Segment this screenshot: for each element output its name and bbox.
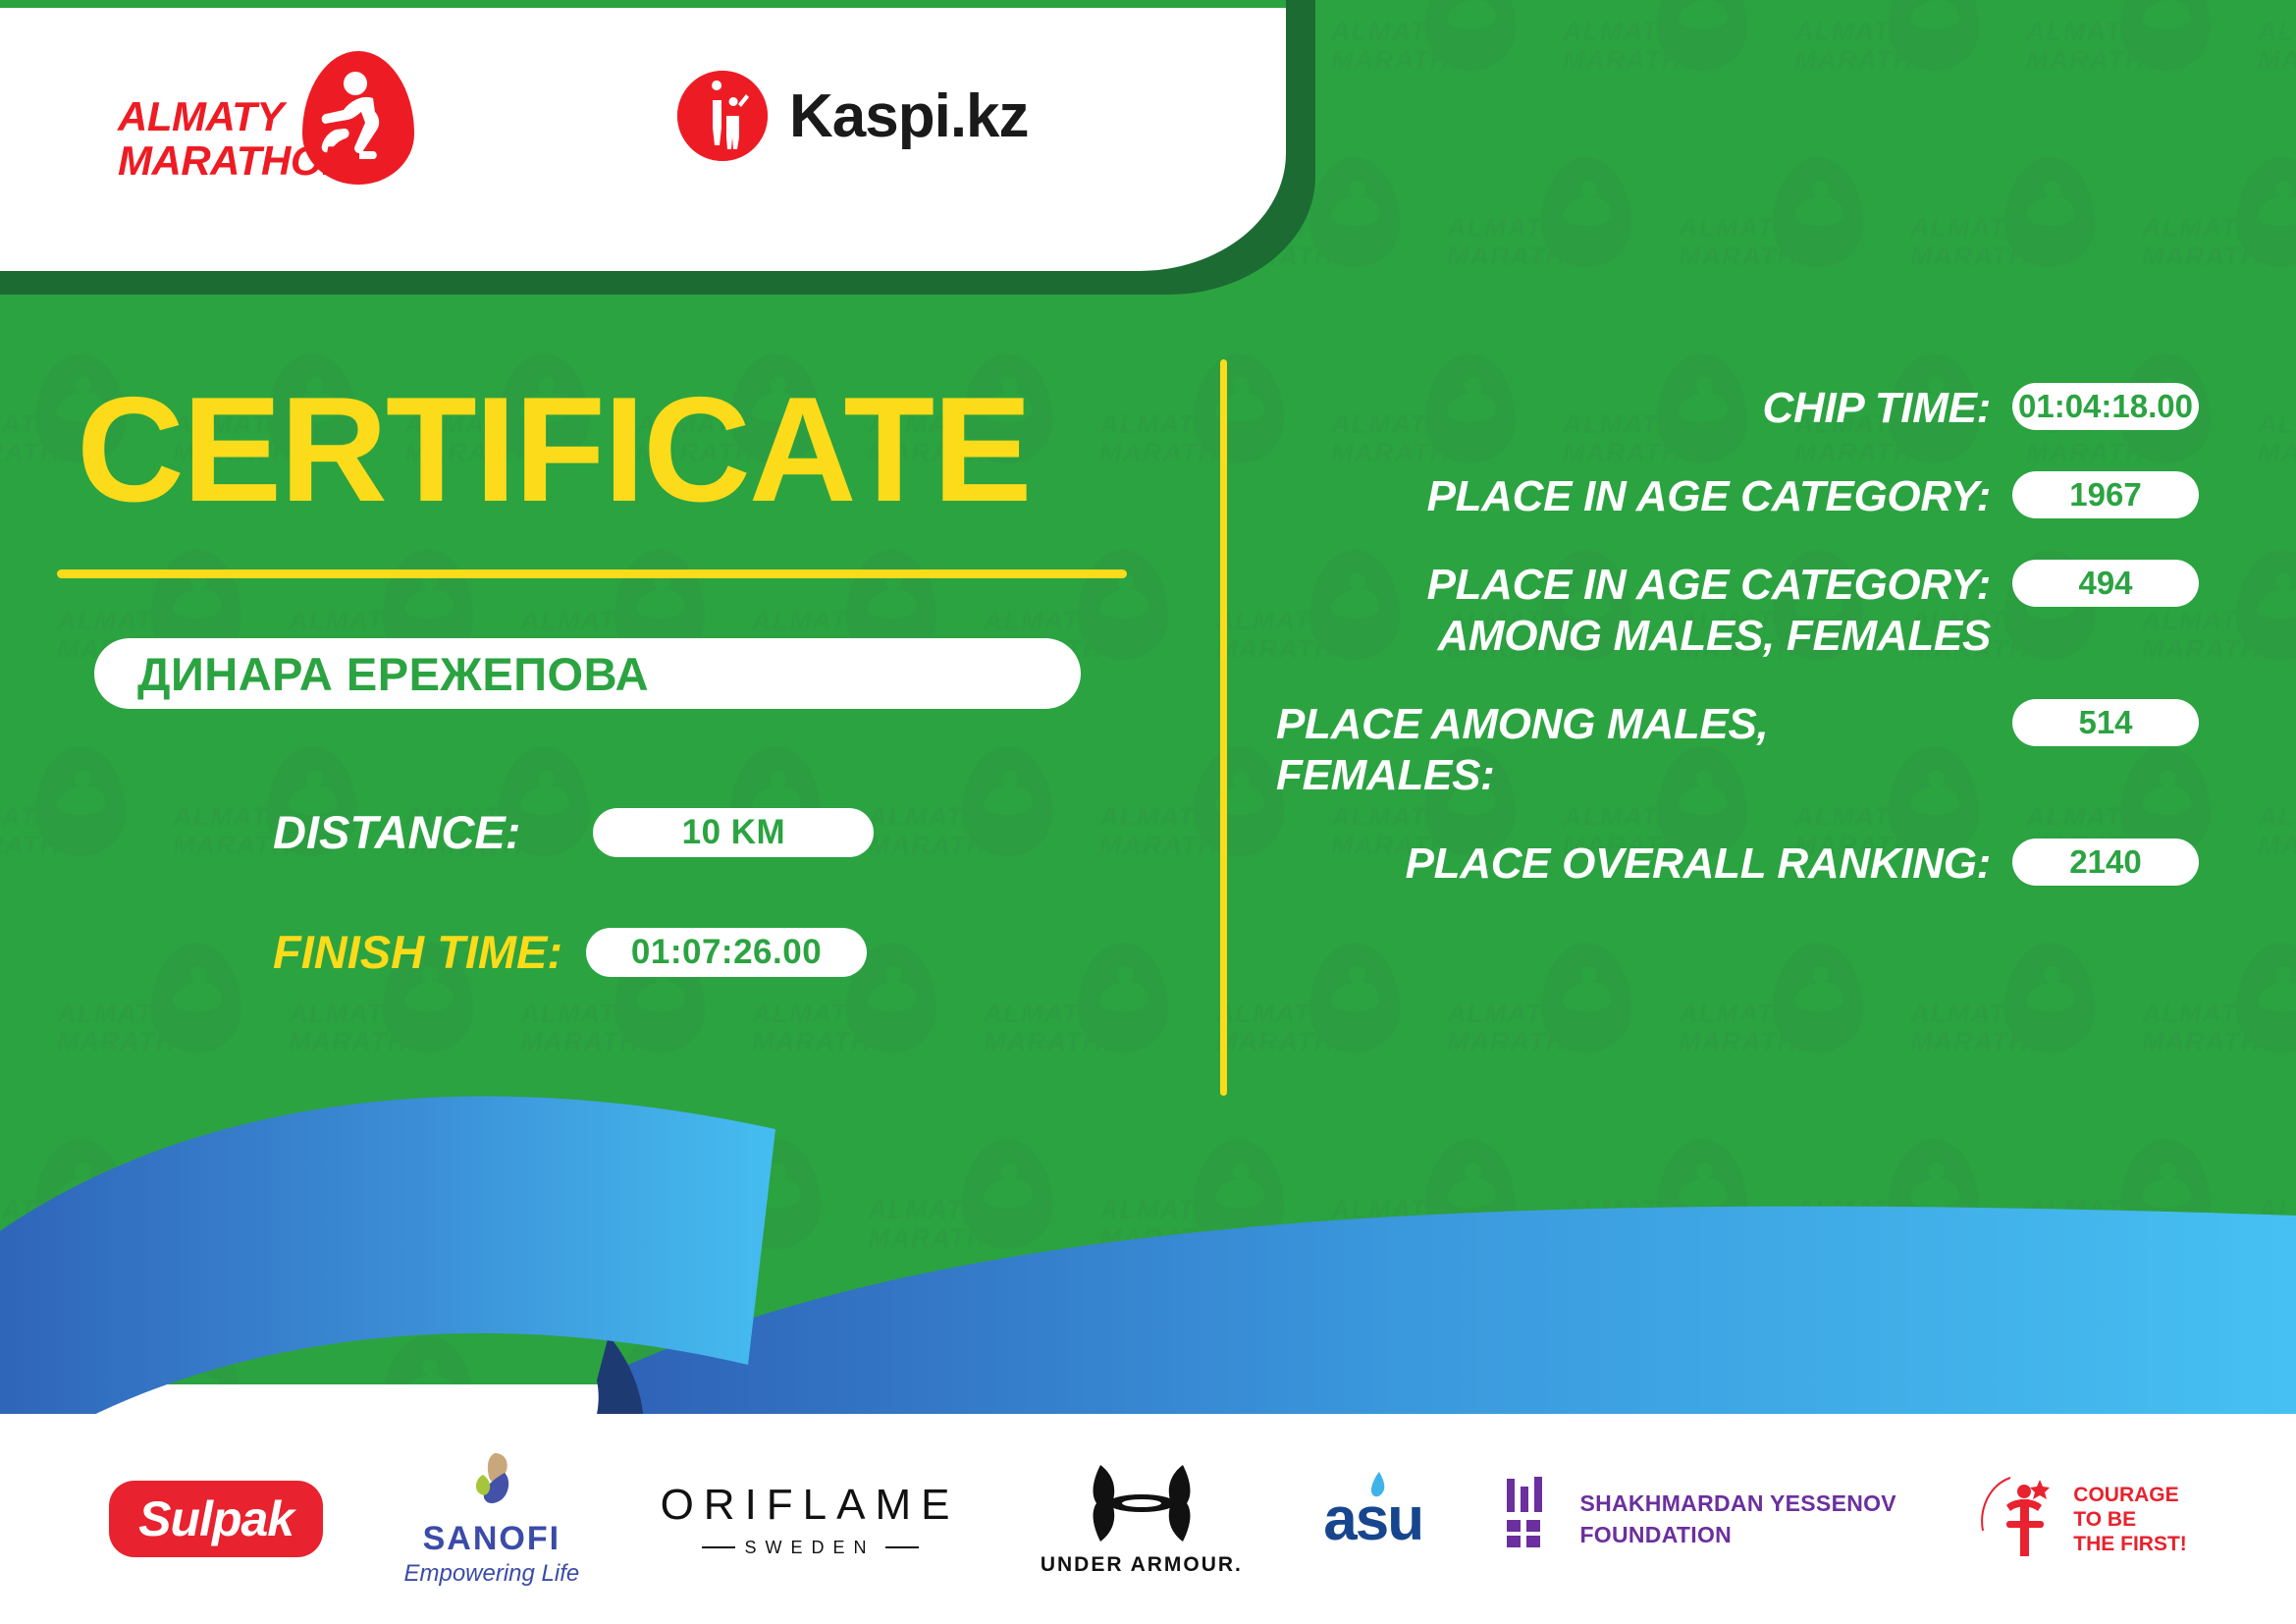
watermark-drop-icon — [1889, 0, 1979, 71]
watermark-tile: ALMATYMARATHON — [1679, 157, 1910, 353]
distance-row: DISTANCE: 10 KM — [273, 805, 874, 859]
watermark-tile: ALMATYMARATHON — [2258, 353, 2296, 550]
stat-value-pill: 514 — [2012, 699, 2199, 746]
stat-row: PLACE OVERALL RANKING:2140 — [1276, 839, 2199, 890]
certificate-body: ALMATYMARATHONALMATYMARATHONALMATYMARATH… — [0, 0, 2296, 1384]
watermark-text: ALMATYMARATHON — [1215, 1000, 1392, 1056]
finish-time-label: FINISH TIME: — [273, 925, 562, 979]
watermark-drop-icon — [2004, 943, 2095, 1053]
watermark-text: ALMATYMARATHON — [984, 1000, 1160, 1056]
watermark-text: ALMATYMARATHON — [1794, 18, 1971, 75]
title-underline — [57, 569, 1127, 578]
watermark-text: ALMATYMARATHON — [2142, 1000, 2296, 1056]
watermark-drop-icon — [1194, 353, 1284, 463]
stat-value: 514 — [2078, 704, 2132, 741]
sanofi-icon — [465, 1451, 518, 1516]
finish-time-value-pill: 01:07:26.00 — [586, 928, 867, 977]
watermark-text: ALMATYMARATHON — [1679, 1000, 1855, 1056]
oriflame-subtitle: SWEDEN — [702, 1538, 919, 1558]
watermark-tile: ALMATYMARATHON — [2258, 0, 2296, 157]
watermark-text: ALMATYMARATHON — [1794, 1196, 1971, 1253]
watermark-tile: ALMATYMARATHON — [173, 1139, 404, 1335]
watermark-drop-icon — [1078, 550, 1168, 660]
watermark-text: ALMATYMARATHON — [2258, 18, 2296, 75]
watermark-drop-icon — [2120, 0, 2211, 71]
header-top-strip — [0, 0, 1286, 8]
watermark-drop-icon — [1309, 157, 1400, 267]
watermark-text: ALMATYMARATHON — [289, 1000, 465, 1056]
stat-value-pill: 1967 — [2012, 471, 2199, 518]
watermark-drop-icon — [2120, 1139, 2211, 1249]
watermark-drop-icon — [1309, 1335, 1400, 1384]
sponsor-yessenov-foundation: SHAKHMARDAN YESSENOV FOUNDATION — [1503, 1477, 1896, 1561]
watermark-tile: ALMATYMARATHON — [404, 1139, 636, 1335]
sponsor-sanofi: SANOFI Empowering Life — [403, 1451, 579, 1588]
watermark-drop-icon — [1889, 1139, 1979, 1249]
almaty-marathon-wordmark: ALMATY MARATHON — [118, 94, 351, 183]
watermark-tile: ALMATYMARATHON — [0, 746, 173, 943]
watermark-drop-icon — [2004, 157, 2095, 267]
watermark-text: ALMATYMARATHON — [1099, 410, 1276, 467]
watermark-text: ALMATYMARATHON — [520, 1000, 697, 1056]
almaty-logo-line1: ALMATY — [118, 94, 351, 138]
watermark-tile: ALMATYMARATHON — [1099, 1139, 1331, 1335]
yessenov-line2: FOUNDATION — [1579, 1519, 1896, 1550]
oriflame-wordmark: ORIFLAME — [661, 1481, 960, 1530]
watermark-tile: ALMATYMARATHON — [1447, 157, 1679, 353]
watermark-drop-icon — [1657, 1139, 1747, 1249]
watermark-text: ALMATYMARATHON — [1679, 214, 1855, 271]
oriflame-sub-text: SWEDEN — [745, 1538, 876, 1558]
watermark-tile: ALMATYMARATHON — [1331, 1139, 1563, 1335]
watermark-text: ALMATYMARATHON — [2142, 214, 2296, 271]
kaspi-logo: Kaspi.kz — [677, 71, 1029, 161]
watermark-drop-icon — [962, 746, 1052, 856]
watermark-drop-icon — [1425, 1139, 1516, 1249]
stat-value: 1967 — [2069, 476, 2141, 514]
watermark-text: ALMATYMARATHON — [1099, 803, 1276, 860]
yessenov-line1: SHAKHMARDAN YESSENOV — [1579, 1488, 1896, 1519]
sulpak-logo: Sulpak — [109, 1481, 323, 1557]
stat-value-pill: 01:04:18.00 — [2012, 383, 2199, 430]
stat-value-pill: 494 — [2012, 560, 2199, 607]
watermark-text: ALMATYMARATHON — [752, 1000, 929, 1056]
finish-time-value: 01:07:26.00 — [631, 933, 822, 972]
watermark-drop-icon — [730, 1139, 821, 1249]
watermark-text: ALMATYMARATHON — [2258, 410, 2296, 467]
sponsor-under-armour: UNDER ARMOUR. — [1041, 1461, 1243, 1577]
watermark-tile: ALMATYMARATHON — [1910, 1335, 2142, 1384]
certificate-page: ALMATYMARATHONALMATYMARATHONALMATYMARATH… — [0, 0, 2296, 1624]
watermark-drop-icon — [499, 1139, 589, 1249]
yessenov-wordmark: SHAKHMARDAN YESSENOV FOUNDATION — [1579, 1488, 1896, 1550]
courage-line1: COURAGE — [2073, 1483, 2187, 1507]
watermark-drop-icon — [267, 1139, 357, 1249]
stat-row: CHIP TIME:01:04:18.00 — [1276, 383, 2199, 434]
watermark-drop-icon — [1309, 943, 1400, 1053]
watermark-text: ALMATYMARATHON — [1331, 1196, 1508, 1253]
watermark-drop-icon — [2004, 1335, 2095, 1384]
watermark-tile: ALMATYMARATHON — [2142, 943, 2296, 1139]
watermark-text: ALMATYMARATHON — [404, 1196, 581, 1253]
watermark-drop-icon — [2236, 1335, 2296, 1384]
yessenov-bars-icon — [1503, 1477, 1564, 1561]
athlete-name-field: ДИНАРА ЕРЕЖЕПОВА — [94, 638, 1081, 709]
distance-value-pill: 10 KM — [593, 808, 874, 857]
watermark-text: ALMATYMARATHON — [1447, 214, 1624, 271]
watermark-text: ALMATYMARATHON — [1099, 1196, 1276, 1253]
watermark-text: ALMATYMARATHON — [1563, 18, 1739, 75]
watermark-drop-icon — [962, 1139, 1052, 1249]
watermark-text: ALMATYMARATHON — [2026, 1196, 2203, 1253]
watermark-drop-icon — [614, 1335, 705, 1384]
watermark-tile: ALMATYMARATHON — [520, 1335, 752, 1384]
watermark-tile: ALMATYMARATHON — [2142, 1335, 2296, 1384]
asu-wordmark: asu — [1323, 1485, 1422, 1554]
stat-row: PLACE AMONG MALES,FEMALES:514 — [1276, 699, 2199, 801]
watermark-drop-icon — [1194, 746, 1284, 856]
almaty-logo-line2: MARATHON — [118, 138, 351, 183]
watermark-tile: ALMATYMARATHON — [984, 943, 1215, 1139]
watermark-text: ALMATYMARATHON — [1447, 1000, 1624, 1056]
oriflame-rule-right — [885, 1546, 919, 1548]
sponsor-asu: asu — [1323, 1485, 1422, 1554]
watermark-tile: ALMATYMARATHON — [57, 943, 289, 1139]
column-divider — [1220, 359, 1227, 1096]
watermark-tile: ALMATYMARATHON — [2258, 746, 2296, 943]
watermark-text: ALMATYMARATHON — [636, 1196, 813, 1253]
watermark-drop-icon — [1773, 157, 1863, 267]
watermark-tile: ALMATYMARATHON — [289, 1335, 520, 1384]
watermark-drop-icon — [1773, 1335, 1863, 1384]
watermark-tile: ALMATYMARATHON — [0, 1139, 173, 1335]
watermark-text: ALMATYMARATHON — [2258, 803, 2296, 860]
watermark-tile: ALMATYMARATHON — [636, 1139, 868, 1335]
watermark-text: ALMATYMARATHON — [57, 1000, 234, 1056]
courage-wordmark: COURAGE TO BE THE FIRST! — [2073, 1483, 2187, 1556]
watermark-drop-icon — [2236, 943, 2296, 1053]
watermark-tile: ALMATYMARATHON — [868, 746, 1099, 943]
watermark-drop-icon — [1078, 1335, 1168, 1384]
watermark-text: ALMATYMARATHON — [868, 1196, 1044, 1253]
watermark-drop-icon — [1773, 943, 1863, 1053]
oriflame-rule-left — [702, 1546, 735, 1548]
watermark-drop-icon — [1425, 0, 1516, 71]
watermark-tile: ALMATYMARATHON — [2142, 157, 2296, 353]
watermark-drop-icon — [383, 1335, 473, 1384]
under-armour-icon — [1083, 1461, 1201, 1545]
stat-label: PLACE AMONG MALES,FEMALES: — [1276, 699, 2012, 801]
almaty-marathon-logo: ALMATY MARATHON — [118, 57, 432, 185]
stat-value: 01:04:18.00 — [2018, 388, 2193, 425]
page-title: CERTIFICATE — [77, 375, 1031, 524]
watermark-tile: ALMATYMARATHON — [1563, 0, 1794, 157]
watermark-drop-icon — [1657, 0, 1747, 71]
sponsor-sulpak: Sulpak — [109, 1481, 323, 1557]
watermark-text: ALMATYMARATHON — [1910, 1000, 2087, 1056]
under-armour-wordmark: UNDER ARMOUR. — [1041, 1553, 1243, 1577]
stat-row: PLACE IN AGE CATEGORY:AMONG MALES, FEMAL… — [1276, 560, 2199, 662]
watermark-text: ALMATYMARATHON — [1910, 214, 2087, 271]
watermark-tile: ALMATYMARATHON — [2258, 1139, 2296, 1335]
courage-line2: TO BE — [2073, 1507, 2187, 1532]
stat-value-pill: 2140 — [2012, 839, 2199, 886]
stat-label: PLACE OVERALL RANKING: — [1276, 839, 2012, 890]
watermark-text: ALMATYMARATHON — [1331, 18, 1508, 75]
kaspi-people-icon — [677, 71, 768, 161]
watermark-tile: ALMATYMARATHON — [1679, 943, 1910, 1139]
watermark-text: ALMATYMARATHON — [2026, 18, 2203, 75]
sanofi-tagline: Empowering Life — [403, 1560, 579, 1588]
watermark-text: ALMATYMARATHON — [173, 1196, 349, 1253]
watermark-tile: ALMATYMARATHON — [1794, 0, 2026, 157]
courage-line3: THE FIRST! — [2073, 1532, 2187, 1556]
watermark-drop-icon — [1541, 1335, 1631, 1384]
watermark-drop-icon — [846, 1335, 936, 1384]
watermark-text: ALMATYMARATHON — [2258, 1196, 2296, 1253]
finish-time-row: FINISH TIME: 01:07:26.00 — [273, 925, 867, 979]
watermark-tile: ALMATYMARATHON — [1910, 157, 2142, 353]
watermark-tile: ALMATYMARATHON — [1563, 1139, 1794, 1335]
watermark-text: ALMATYMARATHON — [0, 1196, 118, 1253]
watermark-tile: ALMATYMARATHON — [1794, 1139, 2026, 1335]
courage-figure-icon — [1977, 1470, 2061, 1568]
watermark-tile: ALMATYMARATHON — [1447, 943, 1679, 1139]
watermark-drop-icon — [1541, 943, 1631, 1053]
stat-label: PLACE IN AGE CATEGORY:AMONG MALES, FEMAL… — [1276, 560, 2012, 662]
sponsor-courage-fund: COURAGE TO BE THE FIRST! — [1977, 1470, 2187, 1568]
watermark-tile: ALMATYMARATHON — [1679, 1335, 1910, 1384]
watermark-tile: ALMATYMARATHON — [1331, 0, 1563, 157]
watermark-drop-icon — [1541, 157, 1631, 267]
watermark-text: ALMATYMARATHON — [868, 803, 1044, 860]
watermark-drop-icon — [1078, 943, 1168, 1053]
stat-value: 2140 — [2069, 843, 2141, 881]
stat-label: CHIP TIME: — [1276, 383, 2012, 434]
sanofi-wordmark: SANOFI — [423, 1520, 561, 1558]
watermark-drop-icon — [151, 1335, 241, 1384]
watermark-drop-icon — [151, 943, 241, 1053]
athlete-name-value: ДИНАРА ЕРЕЖЕПОВА — [137, 647, 649, 701]
sponsor-bar: Sulpak SANOFI Empowering Life ORIFLAME S… — [0, 1414, 2296, 1624]
watermark-drop-icon — [2236, 550, 2296, 660]
results-stats-list: CHIP TIME:01:04:18.00PLACE IN AGE CATEGO… — [1276, 383, 2199, 927]
watermark-drop-icon — [35, 746, 126, 856]
watermark-text: ALMATYMARATHON — [1563, 1196, 1739, 1253]
watermark-tile: ALMATYMARATHON — [1447, 1335, 1679, 1384]
watermark-text: ALMATYMARATHON — [0, 803, 118, 860]
distance-value: 10 KM — [682, 813, 786, 852]
watermark-drop-icon — [1194, 1139, 1284, 1249]
watermark-drop-icon — [35, 1139, 126, 1249]
watermark-tile: ALMATYMARATHON — [984, 1335, 1215, 1384]
watermark-tile: ALMATYMARATHON — [1910, 943, 2142, 1139]
stat-row: PLACE IN AGE CATEGORY:1967 — [1276, 471, 2199, 522]
watermark-tile: ALMATYMARATHON — [2026, 1139, 2258, 1335]
kaspi-wordmark: Kaspi.kz — [789, 81, 1029, 151]
watermark-tile: ALMATYMARATHON — [57, 1335, 289, 1384]
watermark-tile: ALMATYMARATHON — [2026, 0, 2258, 157]
watermark-tile: ALMATYMARATHON — [868, 1139, 1099, 1335]
watermark-tile: ALMATYMARATHON — [1215, 943, 1447, 1139]
sponsor-oriflame: ORIFLAME SWEDEN — [661, 1481, 960, 1558]
stat-label: PLACE IN AGE CATEGORY: — [1276, 471, 2012, 522]
distance-label: DISTANCE: — [273, 805, 520, 859]
watermark-tile: ALMATYMARATHON — [1215, 1335, 1447, 1384]
asu-droplet-icon — [1368, 1471, 1388, 1504]
stat-value: 494 — [2078, 565, 2132, 602]
watermark-tile: ALMATYMARATHON — [752, 1335, 984, 1384]
watermark-drop-icon — [2236, 157, 2296, 267]
